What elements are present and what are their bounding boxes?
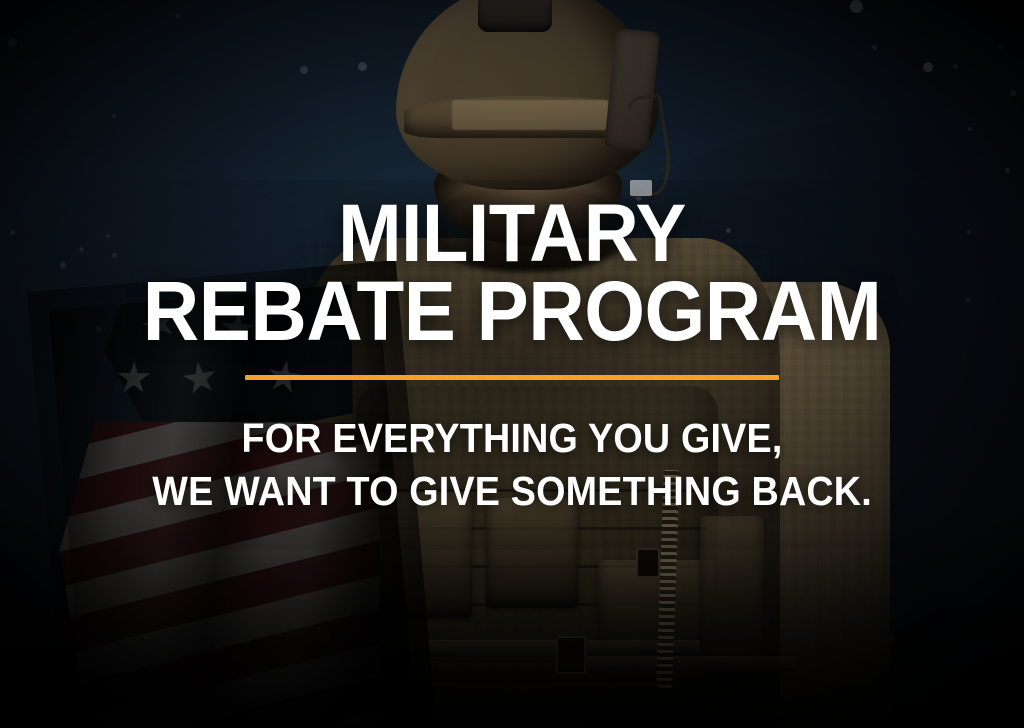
- flag-vignette: [27, 260, 437, 728]
- helmet-velcro-panel: [452, 100, 608, 130]
- face-covering: [430, 186, 628, 272]
- ammo-pouch: [700, 516, 764, 666]
- helmet-ir-marker: [630, 180, 652, 196]
- vest-pouch-center: [486, 498, 578, 608]
- american-flag: [49, 282, 415, 728]
- vest-strap-belt: [566, 656, 796, 671]
- night-vision-mount: [478, 0, 552, 32]
- vest-buckle: [556, 636, 586, 674]
- vest-clip: [636, 548, 660, 578]
- military-rebate-program-banner: MILITARY REBATE PROGRAM FOR EVERYTHING Y…: [0, 0, 1024, 728]
